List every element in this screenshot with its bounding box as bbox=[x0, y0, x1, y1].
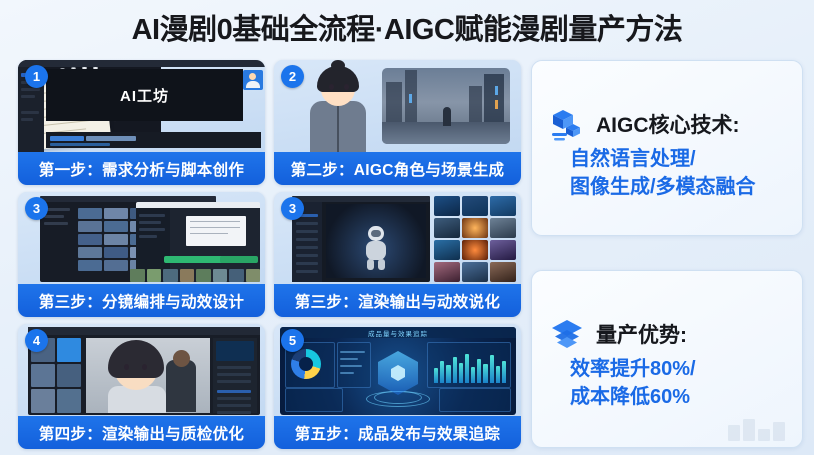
panel-lines-advantage: 效率提升80%/ 成本降低60% bbox=[570, 355, 788, 412]
panel-line-tech-1: 自然语言处理/ bbox=[570, 145, 788, 173]
step-card-2[interactable]: 2 第二步：AIGC角色与场景生成 bbox=[274, 60, 521, 185]
panel-line-tech-2: 图像生成/多模态融合 bbox=[570, 173, 788, 201]
step-caption-6: 第五步：成品发布与效果追踪 bbox=[274, 416, 521, 449]
step-caption-4: 第三步：渲染输出与动效说化 bbox=[274, 284, 521, 317]
step-card-3[interactable]: 3 第三步：分镜编排与动效设计 bbox=[18, 192, 265, 317]
generated-scene-image bbox=[382, 68, 510, 144]
layers-icon bbox=[550, 317, 584, 351]
step-badge-2: 2 bbox=[281, 65, 304, 88]
step-thumbnail-4 bbox=[274, 192, 521, 284]
step-caption-2: 第二步：AIGC角色与场景生成 bbox=[274, 152, 521, 185]
panel-mass-production-advantage[interactable]: 量产优势: 效率提升80%/ 成本降低60% bbox=[531, 270, 803, 448]
cubes-icon bbox=[550, 107, 584, 141]
step-caption-5: 第四步：渲染输出与质检优化 bbox=[18, 416, 265, 449]
step-badge-6: 5 bbox=[281, 329, 304, 352]
step-thumbnail-1: AI工坊 bbox=[18, 60, 265, 152]
panel-aigc-core-tech[interactable]: AIGC核心技术: 自然语言处理/ 图像生成/多模态融合 bbox=[531, 60, 803, 236]
step-caption-3: 第三步：分镜编排与动效设计 bbox=[18, 284, 265, 317]
step-badge-5: 4 bbox=[25, 329, 48, 352]
panel-header-advantage: 量产优势: bbox=[550, 317, 687, 351]
step-card-6[interactable]: 成品量与效果追踪 bbox=[274, 324, 521, 449]
steps-grid: AI工坊 1 第一步：需求分析与脚本创作 bbox=[18, 60, 521, 446]
panel-header-tech: AIGC核心技术: bbox=[550, 107, 740, 141]
watermark bbox=[728, 415, 788, 441]
page-title: AI漫剧0基础全流程·AIGC赋能漫剧量产方法 bbox=[0, 6, 814, 48]
step-card-1[interactable]: AI工坊 1 第一步：需求分析与脚本创作 bbox=[18, 60, 265, 185]
poster-root: AI漫剧0基础全流程·AIGC赋能漫剧量产方法 bbox=[0, 0, 814, 455]
panel-line-advantage-1: 效率提升80%/ bbox=[570, 355, 788, 383]
step-thumbnail-6: 成品量与效果追踪 bbox=[274, 324, 521, 416]
step-badge-1: 1 bbox=[25, 65, 48, 88]
step-badge-3: 3 bbox=[25, 197, 48, 220]
editor-screen-text: AI工坊 bbox=[46, 85, 243, 106]
step-thumbnail-5 bbox=[18, 324, 265, 416]
step-badge-4: 3 bbox=[281, 197, 304, 220]
panel-title-tech: AIGC核心技术: bbox=[596, 109, 740, 139]
panel-line-advantage-2: 成本降低60% bbox=[570, 383, 788, 411]
panel-lines-tech: 自然语言处理/ 图像生成/多模态融合 bbox=[570, 145, 788, 202]
step-caption-1: 第一步：需求分析与脚本创作 bbox=[18, 152, 265, 185]
step-thumbnail-2 bbox=[274, 60, 521, 152]
panel-title-advantage: 量产优势: bbox=[596, 319, 687, 349]
step-card-5[interactable]: 4 第四步：渲染输出与质检优化 bbox=[18, 324, 265, 449]
step-thumbnail-3 bbox=[18, 192, 265, 284]
step-card-4[interactable]: 3 第三步：渲染输出与动效说化 bbox=[274, 192, 521, 317]
